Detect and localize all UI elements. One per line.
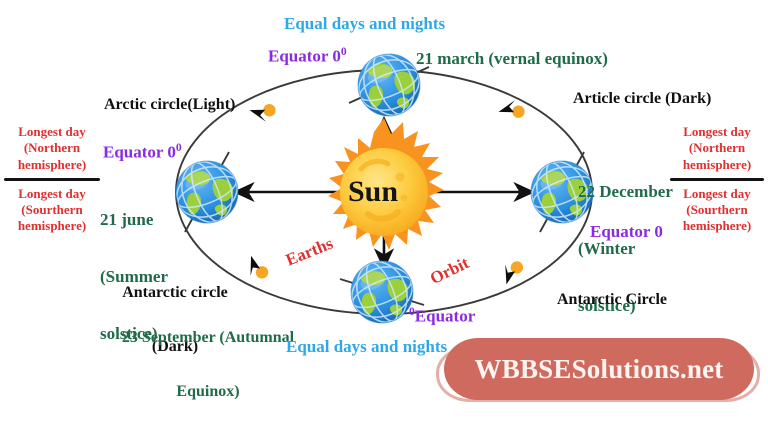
summer-solstice-line-1: 21 june	[100, 210, 168, 229]
label-right-equator-text: Equator 0	[590, 222, 663, 241]
right-bottom-line-2: (Sourthern	[668, 202, 766, 218]
label-bottom-equal-days: Equal days and nights	[286, 337, 447, 356]
label-article-circle-dark: Article circle (Dark)	[573, 90, 711, 108]
label-top-equator-degree: 0	[341, 45, 347, 58]
label-vernal-equinox: 21 march (vernal equinox)	[416, 49, 608, 68]
right-bottom-line-3: hemisphere)	[668, 218, 766, 234]
orbit-marker-top-left	[250, 99, 279, 126]
left-top-line-3: hemisphere)	[2, 157, 102, 173]
left-top-line-1: Longest day	[2, 124, 102, 140]
right-bottom-line-1: Longest day	[668, 186, 766, 202]
label-top-equator-text: Equator 0	[268, 47, 341, 66]
label-arctic-circle-light: Arctic circle(Light)	[104, 96, 235, 114]
left-top-line-2: (Northern	[2, 140, 102, 156]
winter-solstice-line-1: 22 December	[578, 182, 673, 201]
right-top-line-2: (Northern	[668, 140, 766, 156]
autumnal-line-2: Equinox)	[108, 383, 308, 401]
label-autumnal-equinox: 23 September (Autumnal Equinox)	[108, 293, 308, 436]
antarctic-light-line-1: Antarctic Circle	[537, 291, 687, 309]
label-left-equator-degree: 0	[176, 141, 182, 154]
side-note-left-bottom: Longest day (Sourthern hemisphere)	[2, 186, 102, 235]
label-bottom-equator: 0Equator	[409, 306, 475, 326]
label-bottom-equator-text: Equator	[415, 307, 475, 326]
earth-revolution-diagram: Equal days and nights Equator 00 21 marc…	[0, 0, 768, 410]
label-top-equal-days: Equal days and nights	[284, 14, 445, 33]
right-top-line-3: hemisphere)	[668, 157, 766, 173]
left-bottom-line-2: (Sourthern	[2, 202, 102, 218]
left-bottom-line-3: hemisphere)	[2, 218, 102, 234]
right-top-line-1: Longest day	[668, 124, 766, 140]
label-sun: Sun	[348, 175, 398, 209]
label-left-equator: Equator 00	[103, 142, 182, 162]
autumnal-line-1: 23 September (Autumnal	[108, 329, 308, 347]
watermark-text: WBBSESolutions.net	[475, 354, 724, 385]
side-note-right-bottom: Longest day (Sourthern hemisphere)	[668, 186, 766, 235]
side-note-left-divider	[4, 178, 100, 181]
left-bottom-line-1: Longest day	[2, 186, 102, 202]
side-note-left: Longest day (Northern hemisphere) Longes…	[2, 124, 102, 235]
orbit-marker-bottom-right	[497, 257, 527, 284]
side-note-right: Longest day (Northern hemisphere) Longes…	[668, 124, 766, 235]
side-note-right-top: Longest day (Northern hemisphere)	[668, 124, 766, 173]
label-top-equator: Equator 00	[268, 46, 347, 66]
label-left-equator-text: Equator 0	[103, 143, 176, 162]
side-note-right-divider	[670, 178, 764, 181]
orbit-marker-top-right	[499, 96, 528, 123]
orbit-marker-bottom-left	[243, 256, 272, 283]
side-note-left-top: Longest day (Northern hemisphere)	[2, 124, 102, 173]
watermark-badge: WBBSESolutions.net	[444, 338, 754, 400]
label-right-equator: Equator 0	[590, 222, 663, 241]
